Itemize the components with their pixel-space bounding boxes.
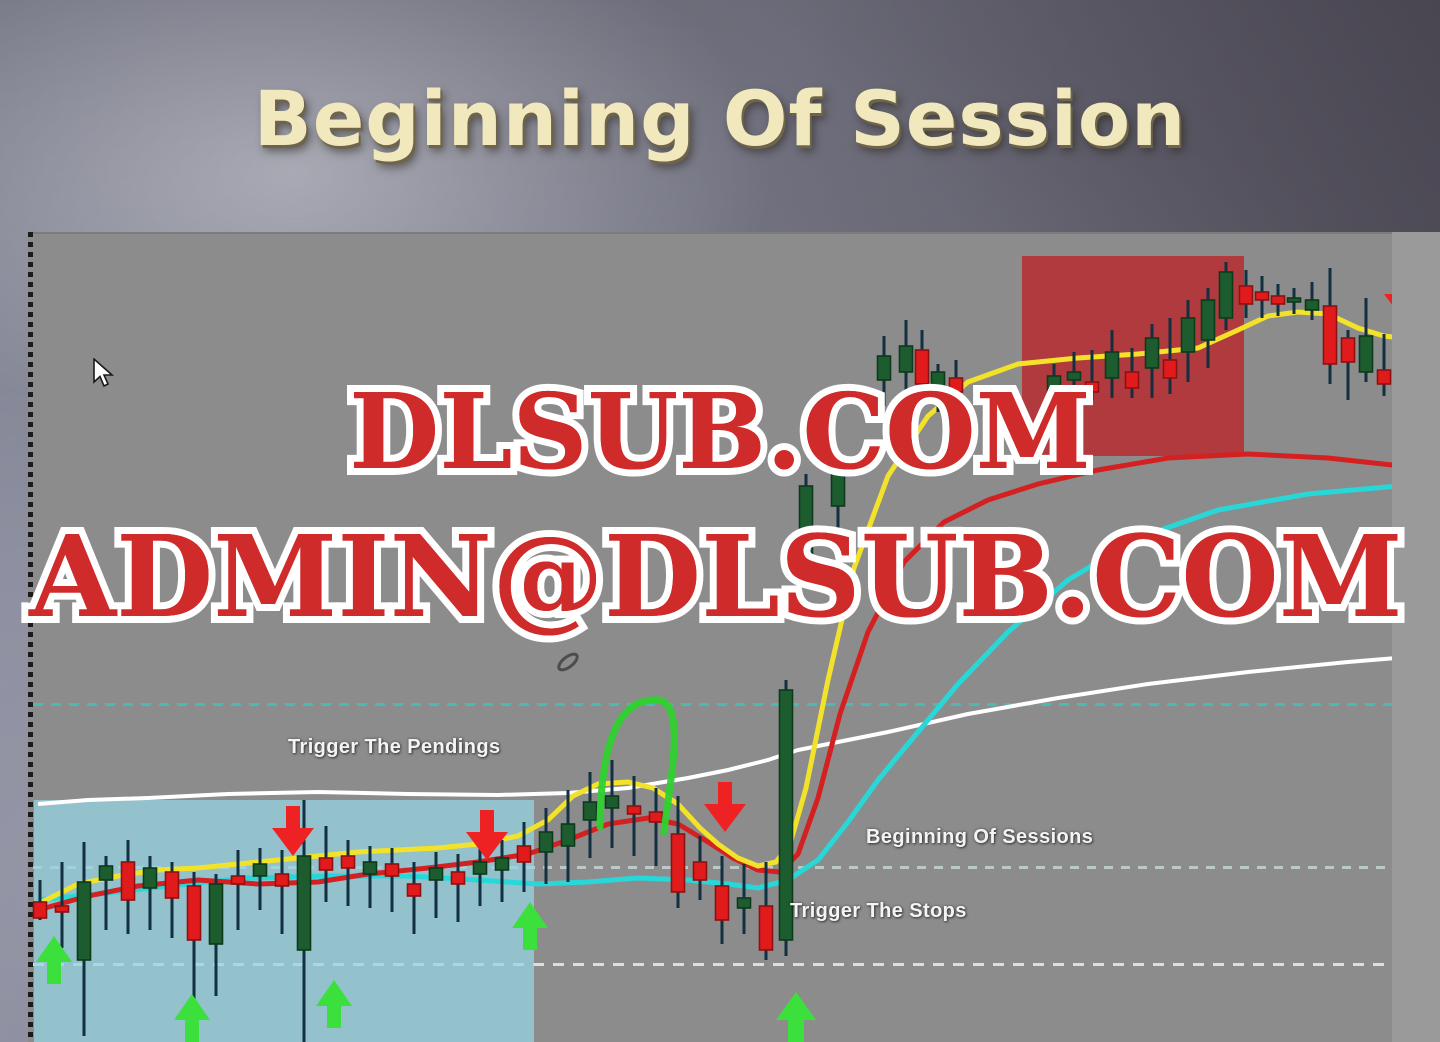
candle-body [1068, 372, 1081, 380]
candle-body [408, 884, 421, 896]
candle-body [496, 858, 509, 870]
candle-body [1378, 370, 1391, 384]
candle-body [34, 902, 47, 918]
candle-body [276, 874, 289, 886]
candle-body [210, 884, 223, 944]
sell-arrow-icon [704, 782, 746, 832]
candle-body [430, 868, 443, 880]
candle-body [518, 846, 531, 862]
candle-body [166, 872, 179, 898]
candle-body [188, 886, 201, 940]
candle-body [144, 868, 157, 888]
label-trigger-the-stops: Trigger The Stops [790, 900, 967, 923]
candle-body [1202, 300, 1215, 340]
buy-arrow-icon [174, 994, 210, 1042]
candle-body [950, 378, 963, 392]
candle-body [694, 862, 707, 880]
label-beginning-of-sessions: Beginning Of Sessions [866, 826, 1093, 849]
candle-body [562, 824, 575, 846]
candle-body [1126, 372, 1139, 388]
candle-body [1342, 338, 1355, 362]
slide-canvas: Beginning Of Session [0, 0, 1440, 1042]
trading-chart-panel[interactable]: Trigger The Pendings Beginning Of Sessio… [28, 232, 1420, 1042]
candle-body [254, 864, 267, 876]
buy-arrow-icon [316, 980, 352, 1028]
buy-arrow-icon [512, 902, 548, 950]
buy-arrow-icon [36, 936, 72, 984]
candle-body [386, 864, 399, 876]
candle-body [1272, 296, 1285, 304]
ma-mid-red-line [38, 454, 1420, 910]
candle-body [78, 882, 91, 960]
candle-body [1086, 382, 1099, 392]
sell-arrow-icon-group [272, 272, 1420, 860]
candle-body [122, 862, 135, 900]
buy-arrow-icon-group [36, 902, 816, 1042]
candle-body [932, 372, 945, 392]
candle-body [342, 856, 355, 868]
candle-body [100, 866, 113, 880]
candle-body [1164, 360, 1177, 378]
candle-body [916, 350, 929, 384]
candle-body [1256, 292, 1269, 300]
candle-body [606, 796, 619, 808]
candle-body [1106, 352, 1119, 378]
ma-slow-cyan-line [38, 484, 1420, 900]
candle-layer [34, 262, 1411, 1042]
candle-body [716, 886, 729, 920]
page-title: Beginning Of Session [0, 74, 1440, 163]
candlestick-plot [28, 232, 1420, 1042]
label-trigger-the-pendings: Trigger The Pendings [288, 736, 500, 759]
candle-body [452, 872, 465, 884]
candle-body [232, 876, 245, 884]
candle-body [900, 346, 913, 372]
buy-arrow-icon [776, 992, 816, 1042]
candle-body [1288, 298, 1301, 302]
candle-body [1240, 286, 1253, 304]
candle-body [672, 834, 685, 892]
candle-body [1220, 272, 1233, 318]
ma-long-white-line [38, 656, 1420, 804]
dark-ellipse-smudge [556, 651, 579, 672]
candle-body [650, 812, 663, 822]
candle-body [1324, 306, 1337, 364]
candle-body [298, 856, 311, 950]
candle-body [1048, 376, 1061, 392]
candle-body [738, 898, 751, 908]
candle-body [760, 906, 773, 950]
candle-body [56, 906, 69, 912]
candle-body [1360, 336, 1373, 372]
sell-arrow-icon [272, 806, 314, 856]
candle-body [1182, 318, 1195, 352]
candle-body [1306, 300, 1319, 310]
candle-body [1146, 338, 1159, 368]
candle-body [584, 802, 597, 820]
mouse-pointer-icon [92, 358, 118, 388]
candle-body [878, 356, 891, 380]
candle-body [474, 862, 487, 874]
candle-body [540, 832, 553, 852]
candle-body [628, 806, 641, 814]
candle-body [364, 862, 377, 874]
chart-panel-right-margin [1392, 232, 1440, 1042]
candle-body [320, 858, 333, 870]
candle-body [832, 470, 845, 506]
candle-body [800, 486, 813, 560]
